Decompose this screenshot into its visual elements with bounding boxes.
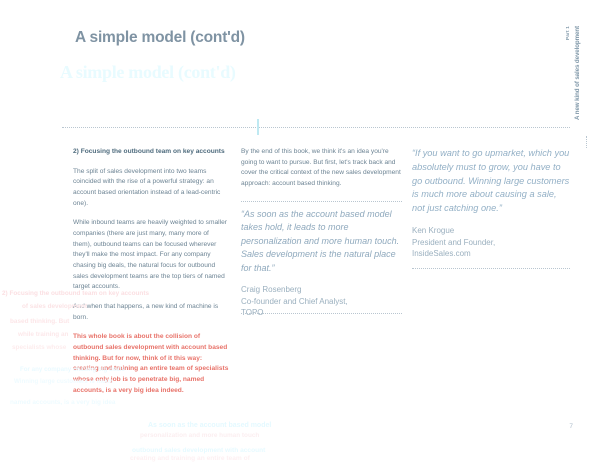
- attribution-role: President and Founder,: [412, 238, 495, 247]
- column-one-paragraph: While inbound teams are heavily weighted…: [73, 218, 229, 293]
- attribution-name: Ken Krogue: [412, 226, 454, 235]
- attribution-name: Craig Rosenberg: [241, 285, 301, 294]
- attribution-company: InsideSales.com: [412, 249, 471, 258]
- column-three: “If you want to go upmarket, which you a…: [412, 147, 570, 269]
- running-head-divider: [586, 136, 587, 148]
- ghost-artifact: outbound sales development with account: [132, 447, 265, 454]
- running-head-title: A new kind of sales development: [574, 26, 582, 120]
- column-one-paragraph: And when that happens, a new kind of mac…: [73, 302, 229, 323]
- column-one-heading: 2) Focusing the outbound team on key acc…: [73, 147, 229, 158]
- page-number: 7: [569, 423, 573, 430]
- ghost-artifact: based thinking. But: [10, 318, 69, 325]
- attribution-role: Co-founder and Chief Analyst,: [241, 297, 348, 306]
- ghost-artifact: personalization and more human touch: [140, 432, 259, 439]
- quote-attribution: Ken Krogue President and Founder, Inside…: [412, 225, 570, 260]
- page-canvas: A simple model (cont'd) A simple model (…: [0, 0, 600, 463]
- ghost-artifact: specialists whose: [12, 344, 66, 351]
- column-two-divider-top: [241, 201, 402, 202]
- column-one-paragraph: The split of sales development into two …: [73, 167, 229, 210]
- running-head-part: Part 1: [565, 26, 570, 40]
- divider-accent-tick: [257, 119, 259, 135]
- column-two: By the end of this book, we think it's a…: [241, 147, 402, 328]
- page-title: A simple model (cont'd): [75, 29, 245, 47]
- column-two-paragraph: By the end of this book, we think it's a…: [241, 147, 402, 190]
- column-one: 2) Focusing the outbound team on key acc…: [73, 147, 229, 405]
- ghost-artifact: As soon as the account based model: [148, 422, 271, 429]
- column-three-divider: [412, 268, 570, 269]
- top-divider: [62, 127, 570, 128]
- running-head-sidebar: Part 1 A new kind of sales development: [576, 26, 590, 130]
- highlighted-callout-text: This whole book is about the collision o…: [73, 332, 229, 396]
- ghost-title-artifact: A simple model (cont'd): [60, 62, 236, 83]
- pull-quote: “If you want to go upmarket, which you a…: [412, 147, 570, 216]
- column-two-quote-block: “As soon as the account based model take…: [241, 208, 402, 319]
- highlighted-callout: This whole book is about the collision o…: [73, 332, 229, 396]
- column-two-divider-bottom: [241, 313, 402, 314]
- pull-quote: “As soon as the account based model take…: [241, 208, 402, 276]
- ghost-artifact: creating and training an entire team of: [130, 455, 250, 462]
- ghost-artifact: while training an: [18, 331, 68, 338]
